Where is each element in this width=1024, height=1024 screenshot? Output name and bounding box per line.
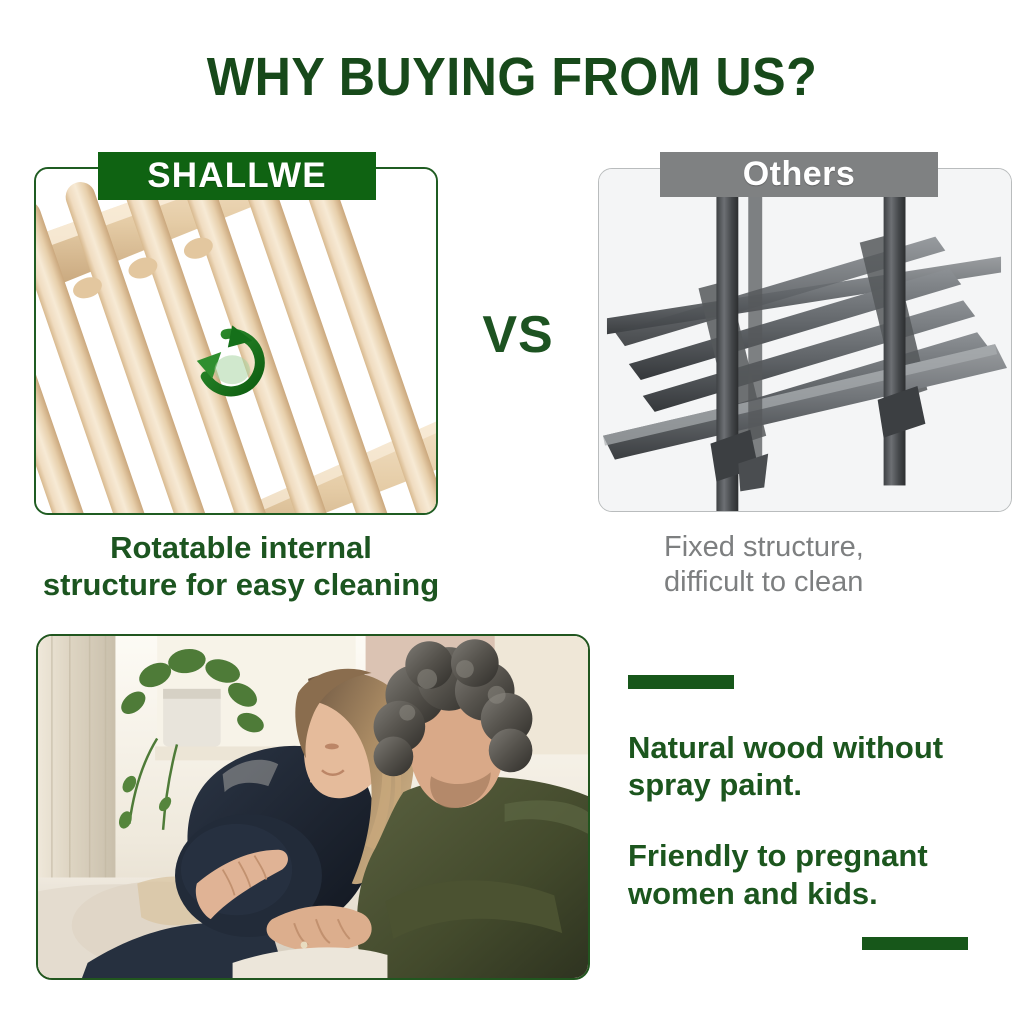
others-caption-line-1: Fixed structure, [664,530,1024,565]
feature-list: Natural wood without spray paint. Friend… [628,675,1008,946]
wooden-shelf-illustration [36,169,436,514]
shallwe-caption-line-2: structure for easy cleaning [18,567,464,604]
feature-divider-rule [628,675,734,689]
shallwe-banner-label: SHALLWE [98,152,376,200]
vs-label: VS [468,305,568,365]
metal-shelf-illustration [599,169,1011,511]
bottom-divider-rule [862,937,968,950]
couple-on-couch-illustration [38,636,588,978]
shallwe-caption: Rotatable internal structure for easy cl… [18,530,464,603]
shallwe-caption-line-1: Rotatable internal [18,530,464,567]
others-caption-line-2: difficult to clean [664,565,1024,600]
feature-item-1: Natural wood without spray paint. [628,729,1008,803]
others-product-image [598,168,1012,512]
lifestyle-photo [36,634,590,980]
others-banner-label: Others [660,152,938,197]
shallwe-product-image [34,167,438,515]
feature-item-2: Friendly to pregnant women and kids. [628,837,1008,911]
others-caption: Fixed structure, difficult to clean [664,530,1024,600]
